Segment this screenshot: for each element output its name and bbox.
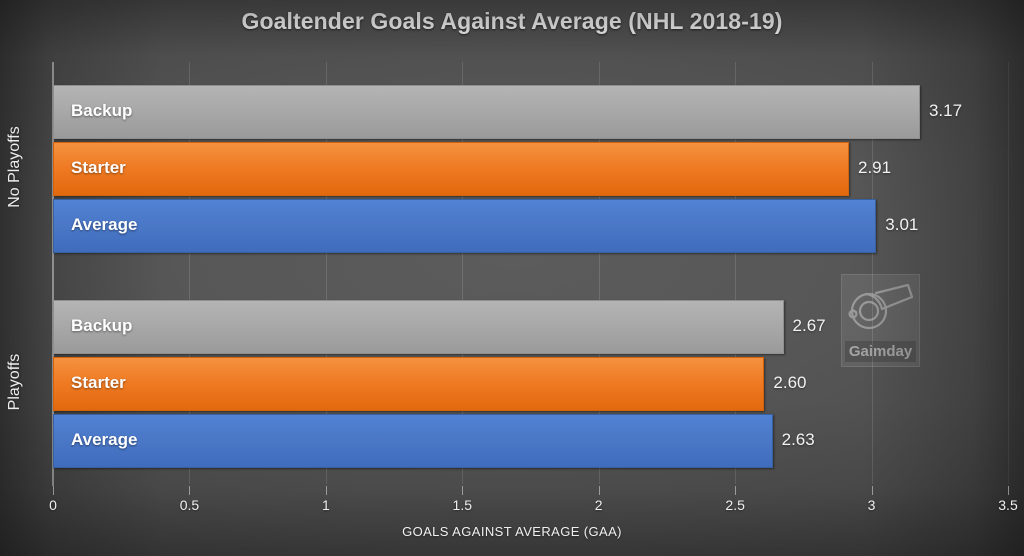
x-tick-label: 3 — [842, 497, 902, 513]
group-axis-label: No Playoffs — [6, 112, 24, 222]
x-tick-mark — [53, 486, 54, 495]
x-tick-mark — [872, 486, 873, 495]
bar-value-label: 3.17 — [929, 85, 962, 137]
x-tick-mark — [735, 486, 736, 495]
bar-label: Starter — [71, 357, 126, 409]
chart-container: Goaltender Goals Against Average (NHL 20… — [0, 0, 1024, 556]
x-axis-title: GOALS AGAINST AVERAGE (GAA) — [0, 524, 1024, 539]
bar-gray[interactable] — [53, 85, 920, 139]
x-tick-label: 1.5 — [432, 497, 492, 513]
x-tick-mark — [1008, 486, 1009, 495]
bar-label: Average — [71, 414, 137, 466]
bar-label: Starter — [71, 142, 126, 194]
bar-orange[interactable] — [53, 142, 849, 196]
bar-blue[interactable] — [53, 199, 876, 253]
x-tick-mark — [326, 486, 327, 495]
bar-value-label: 3.01 — [885, 199, 918, 251]
bar-orange[interactable] — [53, 357, 764, 411]
bar-row[interactable]: Average3.01 — [0, 199, 1024, 251]
x-tick-mark — [189, 486, 190, 495]
x-tick-label: 0.5 — [159, 497, 219, 513]
bar-blue[interactable] — [53, 414, 773, 468]
x-tick-label: 3.5 — [978, 497, 1024, 513]
bar-row[interactable]: Starter2.60 — [0, 357, 1024, 409]
x-tick-label: 2.5 — [705, 497, 765, 513]
x-tick-label: 0 — [23, 497, 83, 513]
bar-value-label: 2.63 — [782, 414, 815, 466]
group-axis-label: Playoffs — [6, 327, 24, 437]
bar-value-label: 2.67 — [793, 300, 826, 352]
bar-row[interactable]: Backup3.17 — [0, 85, 1024, 137]
x-tick-label: 1 — [296, 497, 356, 513]
bar-label: Backup — [71, 85, 132, 137]
x-tick-mark — [599, 486, 600, 495]
x-tick-mark — [462, 486, 463, 495]
bar-row[interactable]: Starter2.91 — [0, 142, 1024, 194]
bar-value-label: 2.91 — [858, 142, 891, 194]
bar-row[interactable]: Average2.63 — [0, 414, 1024, 466]
bar-value-label: 2.60 — [773, 357, 806, 409]
bar-label: Average — [71, 199, 137, 251]
bar-label: Backup — [71, 300, 132, 352]
bar-row[interactable]: Backup2.67 — [0, 300, 1024, 352]
x-tick-label: 2 — [569, 497, 629, 513]
bar-gray[interactable] — [53, 300, 784, 354]
chart-title: Goaltender Goals Against Average (NHL 20… — [0, 8, 1024, 35]
